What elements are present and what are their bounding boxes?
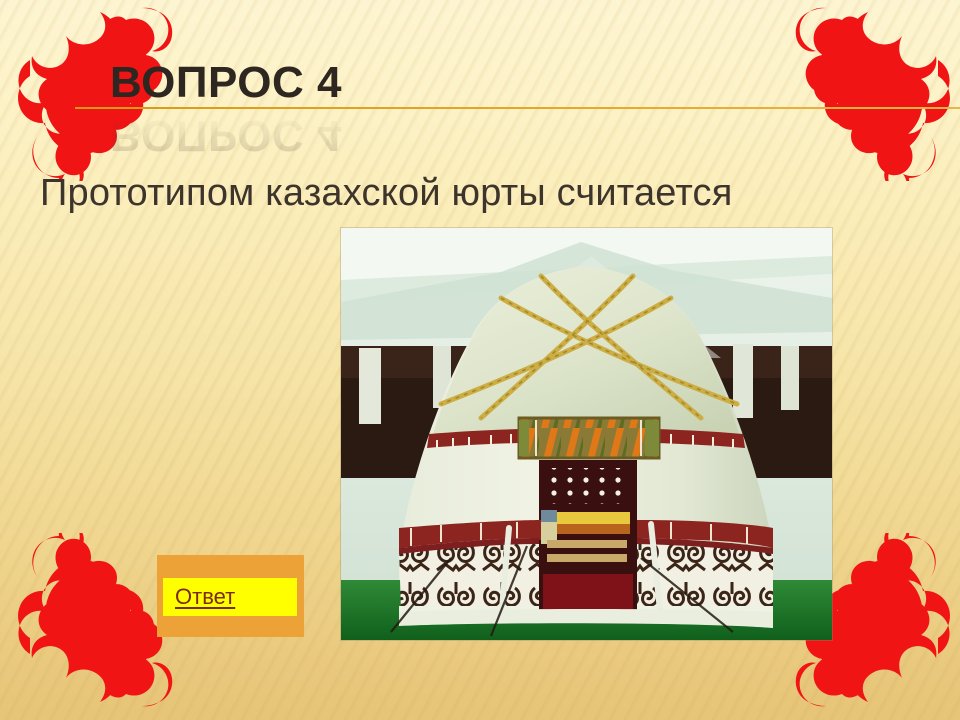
page-title: ВОПРОС 4 — [110, 58, 810, 108]
corner-ornament-bottom-left-icon — [14, 533, 179, 708]
question-text: Прототипом казахской юрты считается — [40, 172, 930, 215]
page-title-reflection: ВОПРОС 4 — [110, 110, 342, 160]
title-divider-rule — [75, 107, 960, 109]
slide-canvas: ВОПРОС 4 ВОПРОС 4 Прототипом казахской ю… — [0, 0, 960, 720]
corner-ornament-top-right-icon — [789, 6, 954, 181]
answer-button-label: Ответ — [163, 584, 235, 610]
answer-button-highlight: Ответ — [163, 578, 297, 616]
answer-button[interactable]: Ответ — [157, 555, 304, 637]
yurt-photo — [341, 228, 832, 640]
